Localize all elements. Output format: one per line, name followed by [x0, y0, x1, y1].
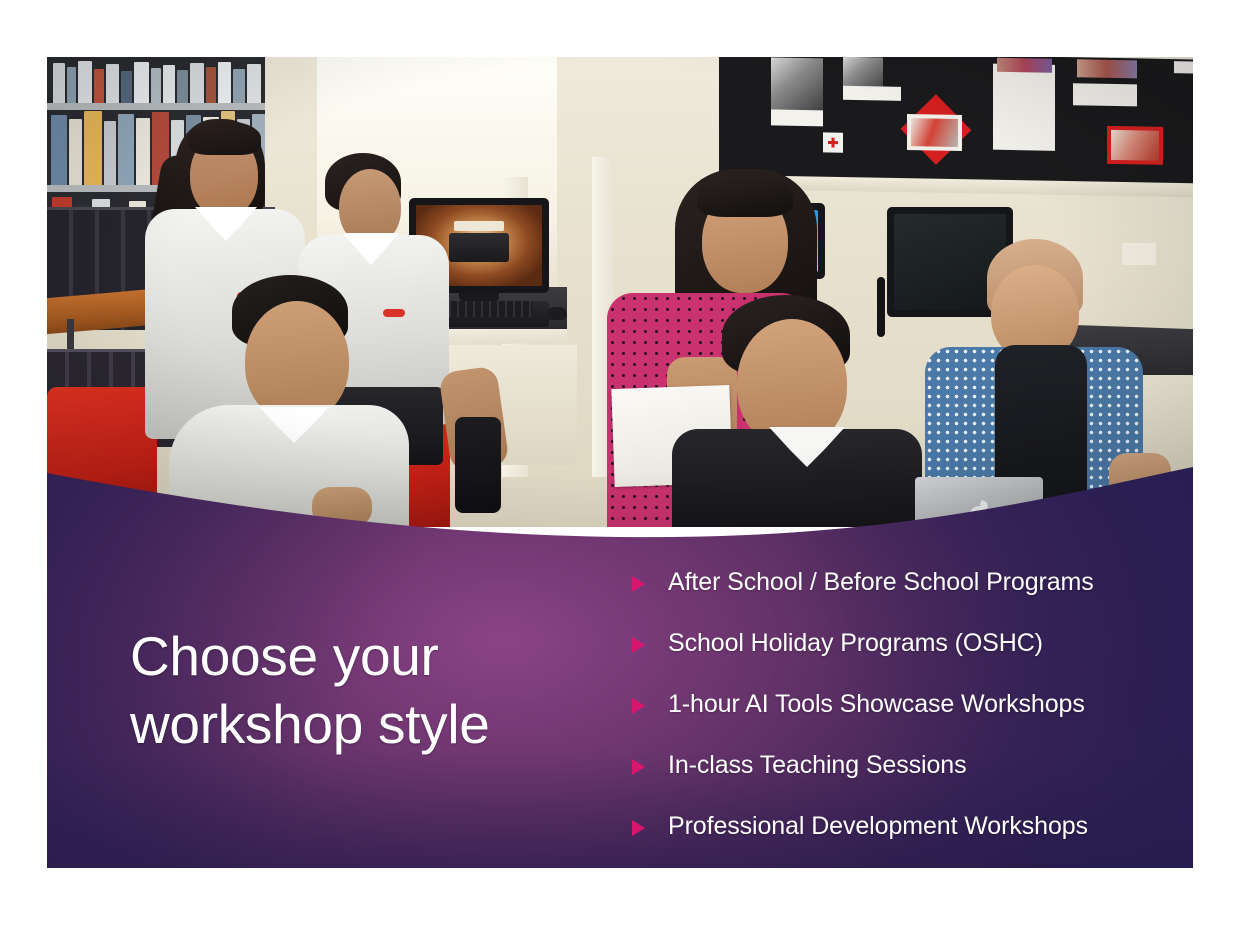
slide-canvas: Choose your workshop style After School … [0, 0, 1240, 932]
wall-socket [1122, 243, 1156, 265]
red-cross-icon [828, 137, 838, 147]
list-item[interactable]: After School / Before School Programs [630, 552, 1170, 613]
noticeboard-framed-photo [1107, 126, 1163, 165]
noticeboard-framed-photo [907, 114, 962, 151]
triangle-right-icon [630, 818, 646, 836]
book [78, 61, 92, 103]
noticeboard-photo [997, 58, 1052, 73]
list-item-label: 1-hour AI Tools Showcase Workshops [668, 690, 1085, 719]
book [106, 64, 119, 103]
list-item[interactable]: Professional Development Workshops [630, 796, 1170, 857]
classroom-photo [47, 57, 1193, 527]
shelf-board [47, 103, 265, 110]
keyboard [435, 301, 533, 317]
book [67, 67, 76, 103]
book [104, 121, 116, 185]
noticeboard-paper [1174, 61, 1193, 73]
book [136, 118, 150, 185]
book [177, 70, 188, 103]
page-title-line-2: workshop style [130, 690, 600, 758]
book [118, 114, 134, 185]
monitor-stand [459, 293, 499, 301]
noticeboard [719, 57, 1193, 188]
noticeboard-paper [771, 109, 823, 126]
book [51, 115, 67, 185]
triangle-right-icon [630, 574, 646, 592]
book [206, 67, 216, 103]
workshop-options-list: After School / Before School Programs Sc… [630, 552, 1170, 857]
page-title: Choose your workshop style [130, 622, 600, 758]
list-item-label: After School / Before School Programs [668, 568, 1094, 597]
triangle-right-icon [630, 757, 646, 775]
hair-front [188, 121, 261, 155]
noticeboard-document [993, 64, 1055, 151]
list-item-label: School Holiday Programs (OSHC) [668, 629, 1043, 658]
book [218, 62, 231, 103]
book [163, 65, 175, 103]
list-item-label: Professional Development Workshops [668, 812, 1088, 841]
photo-scene [47, 57, 1193, 527]
book [69, 119, 82, 185]
book [53, 63, 65, 103]
noticeboard-red-cross-logo [823, 132, 843, 152]
book [94, 69, 104, 103]
uniform-badge [383, 309, 405, 317]
hair-front [697, 173, 793, 217]
list-item[interactable]: In-class Teaching Sessions [630, 735, 1170, 796]
list-item-label: In-class Teaching Sessions [668, 751, 967, 780]
mouse [547, 307, 567, 320]
noticeboard-paper [843, 86, 901, 101]
face [245, 301, 349, 421]
leg [455, 417, 501, 513]
page-title-line-1: Choose your [130, 622, 600, 690]
book [134, 62, 149, 103]
book [233, 69, 245, 103]
book [121, 71, 132, 103]
triangle-right-icon [630, 635, 646, 653]
book [151, 68, 161, 103]
list-item[interactable]: School Holiday Programs (OSHC) [630, 613, 1170, 674]
triangle-right-icon [630, 696, 646, 714]
list-item[interactable]: 1-hour AI Tools Showcase Workshops [630, 674, 1170, 735]
noticeboard-photo [1077, 59, 1137, 78]
monitor-cable [877, 277, 885, 337]
book [247, 64, 261, 103]
noticeboard-paper [1073, 83, 1137, 106]
book [84, 111, 102, 185]
book [190, 63, 204, 103]
noticeboard-photo [771, 57, 823, 110]
